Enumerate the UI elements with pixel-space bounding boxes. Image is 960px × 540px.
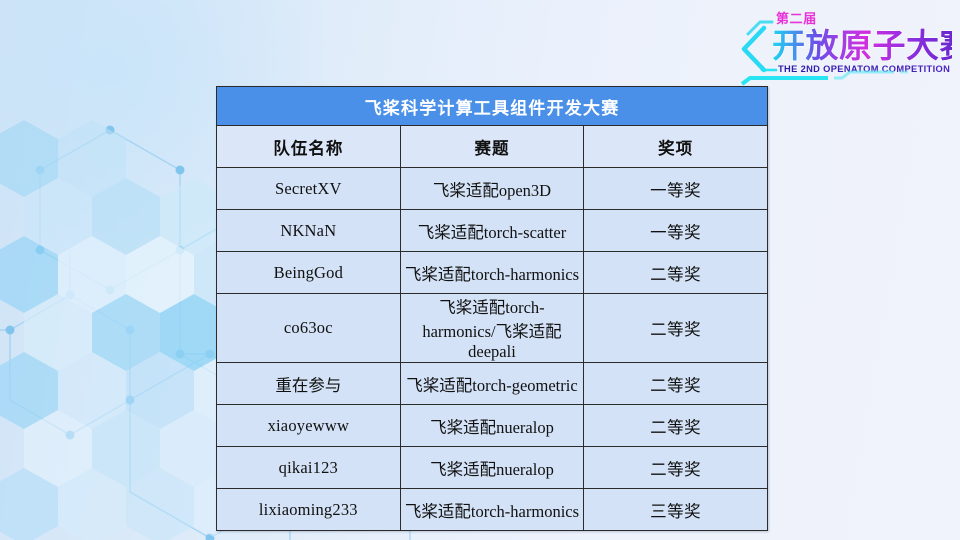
cell-topic: 飞桨适配torch-harmonics: [400, 489, 584, 531]
column-header-team: 队伍名称: [217, 126, 401, 168]
cell-team: lixiaoming233: [217, 489, 401, 531]
slide-canvas: 第二届 开放原子大赛 THE 2ND OPENATOM COMPETITION …: [0, 0, 960, 540]
cell-team: NKNaN: [217, 210, 401, 252]
table-row: NKNaN 飞桨适配torch-scatter 一等奖: [217, 210, 768, 252]
cell-prize: 二等奖: [584, 294, 768, 363]
cell-team: xiaoyewww: [217, 405, 401, 447]
cell-team: qikai123: [217, 447, 401, 489]
awards-table-container: 飞桨科学计算工具组件开发大赛 队伍名称 赛题 奖项 SecretXV 飞桨适配o…: [216, 86, 768, 531]
logo-badge-text: 第二届: [776, 11, 817, 26]
awards-table: 飞桨科学计算工具组件开发大赛 队伍名称 赛题 奖项 SecretXV 飞桨适配o…: [216, 86, 768, 531]
cell-prize: 一等奖: [584, 168, 768, 210]
cell-prize: 二等奖: [584, 252, 768, 294]
cell-topic: 飞桨适配torch-scatter: [400, 210, 584, 252]
cell-topic: 飞桨适配torch-harmonics: [400, 252, 584, 294]
table-row: xiaoyewww 飞桨适配nueralop 二等奖: [217, 405, 768, 447]
cell-prize: 三等奖: [584, 489, 768, 531]
logo-main-text: 开放原子大赛: [772, 27, 952, 64]
cell-topic: 飞桨适配torch-harmonics/飞桨适配deepali: [400, 294, 584, 363]
table-title-row: 飞桨科学计算工具组件开发大赛: [217, 87, 768, 126]
cell-prize: 二等奖: [584, 363, 768, 405]
table-row: co63oc 飞桨适配torch-harmonics/飞桨适配deepali 二…: [217, 294, 768, 363]
cell-topic: 飞桨适配nueralop: [400, 447, 584, 489]
table-row: SecretXV 飞桨适配open3D 一等奖: [217, 168, 768, 210]
table-row: qikai123 飞桨适配nueralop 二等奖: [217, 447, 768, 489]
openatom-competition-logo: 第二届 开放原子大赛 THE 2ND OPENATOM COMPETITION: [724, 2, 952, 90]
cell-team: 重在参与: [217, 363, 401, 405]
cell-prize: 一等奖: [584, 210, 768, 252]
column-header-prize: 奖项: [584, 126, 768, 168]
angle-bracket-icon: [744, 22, 772, 70]
table-title: 飞桨科学计算工具组件开发大赛: [217, 87, 768, 126]
cell-team: SecretXV: [217, 168, 401, 210]
cell-prize: 二等奖: [584, 447, 768, 489]
cell-topic: 飞桨适配torch-geometric: [400, 363, 584, 405]
column-header-topic: 赛题: [400, 126, 584, 168]
cell-prize: 二等奖: [584, 405, 768, 447]
cell-topic: 飞桨适配nueralop: [400, 405, 584, 447]
cell-team: BeingGod: [217, 252, 401, 294]
cell-topic: 飞桨适配open3D: [400, 168, 584, 210]
table-row: lixiaoming233 飞桨适配torch-harmonics 三等奖: [217, 489, 768, 531]
table-row: 重在参与 飞桨适配torch-geometric 二等奖: [217, 363, 768, 405]
table-row: BeingGod 飞桨适配torch-harmonics 二等奖: [217, 252, 768, 294]
cell-team: co63oc: [217, 294, 401, 363]
table-header-row: 队伍名称 赛题 奖项: [217, 126, 768, 168]
